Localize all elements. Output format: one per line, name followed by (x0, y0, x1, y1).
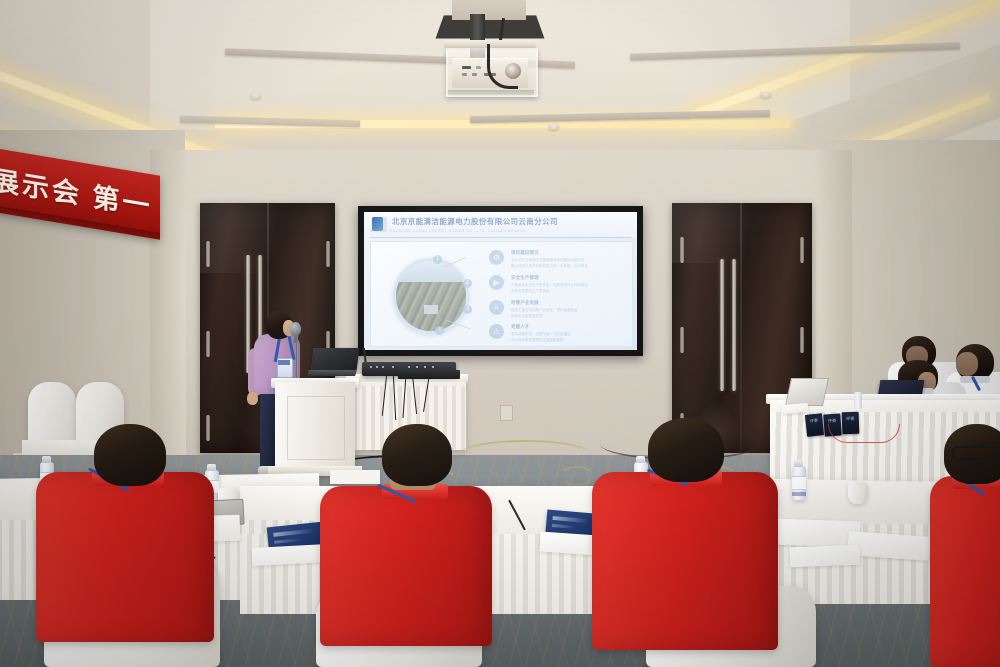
arc-number-3: 3 (463, 305, 472, 314)
attendee-2-head (382, 424, 452, 486)
floor-cable (460, 440, 590, 468)
red-cable (828, 424, 900, 443)
slide-divider (370, 237, 631, 238)
bottle-label (792, 476, 806, 490)
slide-subtitle: BEIJING JINGNENG CLEAN ENERGY POWER CO.,… (370, 229, 630, 233)
projector-button (462, 73, 467, 76)
attendee-3-head (648, 418, 724, 482)
conference-room-photo: 展示会 第一组 北京京能清洁能源电力股份有限公司云南分公司 BEIJING JI… (0, 0, 1000, 667)
bullet-line: 为公司改革发展提供坚强组织保障 (511, 338, 564, 343)
projector-button (472, 73, 477, 76)
attendee-4-shirt (930, 476, 1000, 667)
power-outlet-icon (500, 405, 513, 421)
name-placard: 评委 (805, 413, 824, 437)
slide-body: 1 2 3 4 ⚙ 项目建设情况 本公司在云南地区开展新能源电站建设运营业务 截… (370, 241, 633, 347)
bullet-heading: 项目建设情况 (511, 250, 539, 256)
chart-icon: ≡ (489, 300, 504, 315)
bullet-line: 本公司在云南地区开展新能源电站建设运营业务 (511, 258, 585, 263)
photo-solar-panel (424, 305, 438, 314)
bullet-line: 推动企业高质量发展 (511, 314, 543, 319)
slide-circular-photo (393, 258, 469, 334)
photo-sky (396, 261, 466, 282)
megaphone-icon: ▶ (489, 275, 504, 290)
arc-number-4: 4 (435, 326, 444, 335)
glasses-icon (952, 446, 1000, 460)
bullet-line: 全年实现安全生产零事故 (511, 289, 550, 294)
water-bottle[interactable] (854, 392, 862, 409)
bottle-cap (207, 464, 216, 471)
lightbulb-icon: ⚙ (489, 250, 504, 265)
attendee-3-shirt (592, 472, 778, 650)
bullet-heading: 经营产业发展 (511, 300, 539, 306)
warning-icon: ⚠ (489, 324, 504, 339)
bottle-band (792, 492, 806, 496)
smoke-detector-icon (760, 92, 771, 98)
bottle-cap (42, 456, 51, 463)
projector-shadow (448, 90, 534, 98)
smoke-detector-icon (250, 93, 261, 99)
bullet-heading: 党建人才 (511, 324, 529, 330)
arc-number-2: 2 (463, 279, 472, 288)
projector-button (476, 66, 481, 69)
bottle-cap (794, 460, 803, 467)
arc-number-1: 1 (433, 255, 442, 264)
bullet-line: 截止目前已投产装机容量达到一定规模，运行稳定 (511, 264, 588, 269)
document-sheet (790, 545, 861, 567)
attendee-2-shirt (320, 486, 492, 646)
bottle-cap (636, 456, 645, 463)
attendee-1-shirt (36, 472, 214, 642)
projector-mount-plate (452, 0, 526, 20)
podium-front-panel (287, 396, 345, 460)
paper-cup[interactable] (848, 482, 868, 504)
bullet-heading: 安全生产管理 (511, 275, 539, 281)
projection-screen: 北京京能清洁能源电力股份有限公司云南分公司 BEIJING JINGNENG C… (364, 212, 637, 350)
slide-title: 北京京能清洁能源电力股份有限公司云南分公司 (392, 216, 630, 227)
presenter-laptop-screen[interactable] (311, 348, 360, 371)
projector-button (462, 66, 471, 69)
bullet-line: 严格落实安全生产责任制，强化现场作业风险管控 (511, 283, 588, 288)
document-sheet (330, 470, 380, 484)
presenter-laptop-keyboard[interactable] (307, 370, 357, 376)
attendee-1-head (94, 424, 166, 486)
microphone-icon[interactable] (290, 322, 301, 336)
smoke-detector-icon (548, 124, 559, 130)
presenter-hand (247, 392, 258, 405)
bullet-line: 坚持党建引领，加强干部人才队伍建设 (511, 332, 571, 337)
presenter-badge-stripe (278, 360, 290, 365)
bullet-line: 围绕主营业务拓展产业链条，提升经营效益 (511, 308, 578, 313)
cable-bundle (380, 374, 450, 420)
judge-laptop-open[interactable] (785, 378, 829, 406)
